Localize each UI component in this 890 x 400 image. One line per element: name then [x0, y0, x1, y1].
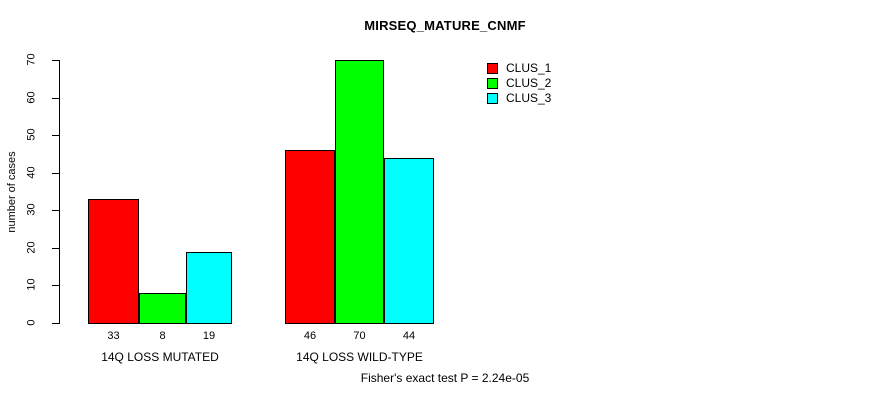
legend-color-swatch [487, 63, 498, 74]
bar-value-label: 46 [285, 331, 335, 342]
y-tick-mark [52, 173, 59, 174]
statistical-test-annotation: Fisher's exact test P = 2.24e-05 [0, 371, 890, 385]
y-tick-label: 10 [27, 270, 38, 300]
y-tick-mark [52, 248, 59, 249]
bar-clus_3-group1 [186, 252, 232, 324]
y-tick-mark [52, 210, 59, 211]
chart-canvas: MIRSEQ_MATURE_CNMF 010203040506070 numbe… [0, 0, 890, 400]
bar-clus_2-group2 [335, 60, 384, 324]
y-tick-mark [52, 285, 59, 286]
bar-value-label: 8 [139, 331, 186, 342]
y-tick-mark [52, 60, 59, 61]
y-tick-label: 60 [27, 82, 38, 112]
y-tick-label: 20 [27, 232, 38, 262]
bar-value-label: 33 [88, 331, 139, 342]
y-axis-title: number of cases [6, 132, 18, 252]
bar-value-label: 70 [335, 331, 384, 342]
x-axis-group-label: 14Q LOSS WILD-TYPE [225, 351, 494, 364]
y-tick-label: 40 [27, 157, 38, 187]
legend-label: CLUS_1 [506, 62, 551, 75]
bar-value-label: 44 [384, 331, 434, 342]
bar-clus_1-group2 [285, 150, 335, 324]
bar-value-label: 19 [186, 331, 232, 342]
chart-title: MIRSEQ_MATURE_CNMF [0, 18, 890, 33]
y-tick-label: 70 [27, 45, 38, 75]
y-axis-line [59, 60, 60, 324]
y-tick-label: 0 [27, 308, 38, 338]
bar-clus_3-group2 [384, 158, 434, 324]
legend-color-swatch [487, 78, 498, 89]
y-tick-mark [52, 323, 59, 324]
y-tick-mark [52, 98, 59, 99]
legend-label: CLUS_3 [506, 92, 551, 105]
y-tick-label: 30 [27, 195, 38, 225]
y-tick-label: 50 [27, 120, 38, 150]
legend-label: CLUS_2 [506, 77, 551, 90]
bar-clus_1-group1 [88, 199, 139, 324]
y-tick-mark [52, 135, 59, 136]
bar-clus_2-group1 [139, 293, 186, 324]
legend-color-swatch [487, 93, 498, 104]
